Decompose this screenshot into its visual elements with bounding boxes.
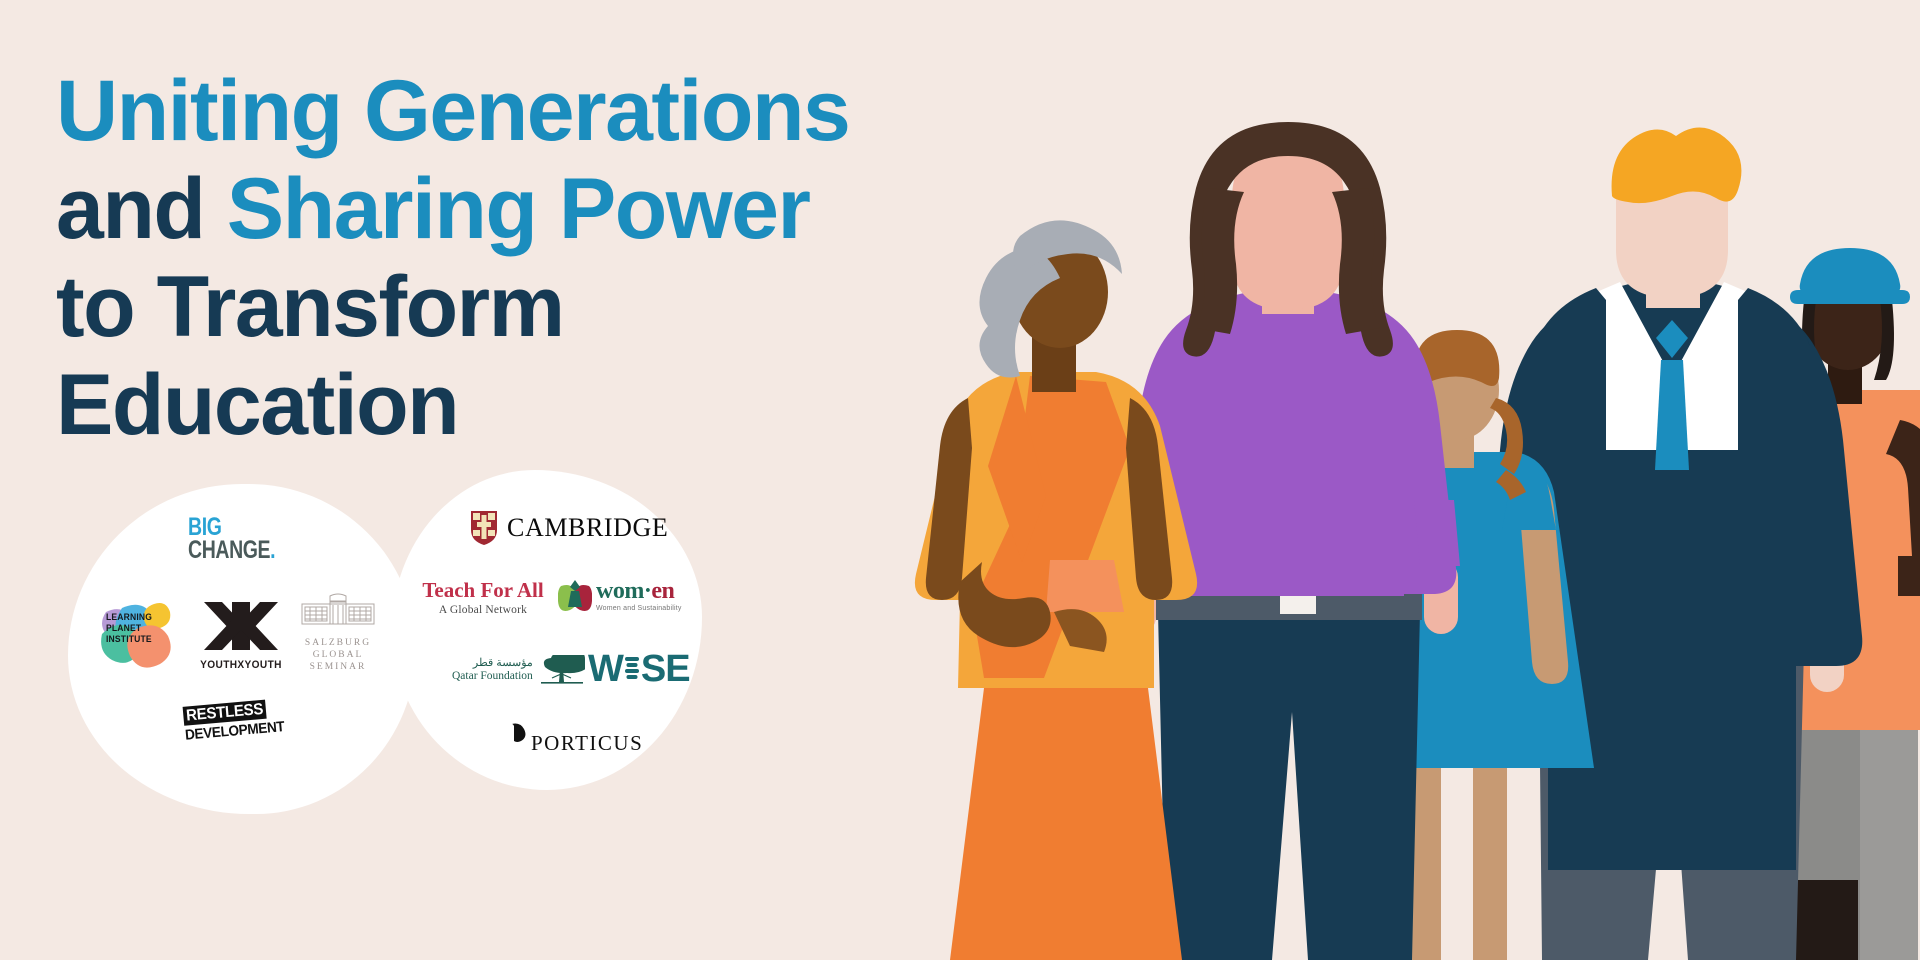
youthxyouth-wordmark: YOUTHXYOUTH: [200, 659, 283, 671]
women-wordmark: wom·en: [596, 579, 682, 603]
wise-stacked-bars-icon: [624, 651, 640, 685]
salzburg-line-2: GLOBAL: [300, 649, 376, 661]
salzburg-building-icon: [300, 592, 376, 628]
title-line-2: and Sharing Power: [56, 160, 976, 258]
big-change-dot: .: [270, 536, 275, 564]
page-title: Uniting Generations and Sharing Power to…: [56, 62, 976, 454]
title-line-2-accent: Sharing Power: [227, 161, 810, 257]
cambridge-shield-icon: [470, 510, 498, 546]
women-tagline: Women and Sustainability: [596, 605, 682, 612]
wise-wordmark-w: W: [588, 650, 623, 688]
logo-big-change[interactable]: BIG CHANGE.: [188, 516, 288, 563]
logo-qatar-foundation[interactable]: مؤسسة قطر Qatar Foundation: [452, 655, 585, 685]
title-line-1: Uniting Generations: [56, 62, 976, 160]
wise-wordmark-se: SE: [641, 650, 690, 688]
title-line-3: to Transform: [56, 258, 976, 356]
cambridge-wordmark: CAMBRIDGE: [507, 513, 668, 543]
lpi-line-3: INSTITUTE: [106, 634, 152, 645]
lpi-line-2: PLANET: [106, 623, 152, 634]
women-leaf-icon: [558, 578, 592, 612]
poster-canvas: Uniting Generations and Sharing Power to…: [0, 0, 1920, 960]
qatar-foundation-wordmark: مؤسسة قطر Qatar Foundation: [452, 657, 533, 683]
qatar-foundation-tree-icon: [539, 655, 585, 685]
title-line-2-lead: and: [56, 161, 227, 257]
logo-porticus[interactable]: PORTICUS: [508, 722, 643, 756]
youthxyouth-mark-icon: [196, 600, 286, 652]
title-line-3-text: to Transform: [56, 259, 564, 355]
qatar-foundation-english: Qatar Foundation: [452, 670, 533, 683]
qatar-foundation-arabic: مؤسسة قطر: [452, 657, 533, 670]
big-change-word-change: CHANGE.: [188, 538, 266, 563]
lpi-line-1: LEARNING: [106, 612, 152, 623]
logo-wise[interactable]: W SE: [588, 650, 690, 688]
teach-for-all-tagline: A Global Network: [418, 604, 548, 616]
title-line-4-text: Education: [56, 357, 458, 453]
logo-salzburg-global-seminar[interactable]: SALZBURG GLOBAL SEMINAR: [300, 592, 376, 673]
porticus-p-icon: [508, 722, 530, 756]
logo-women-sustainability[interactable]: wom·en Women and Sustainability: [558, 578, 682, 612]
logo-learning-planet-institute[interactable]: LEARNING PLANET INSTITUTE: [92, 592, 174, 674]
women-wordmark-block: wom·en Women and Sustainability: [596, 579, 682, 612]
logo-youthxyouth[interactable]: YOUTHXYOUTH: [196, 600, 286, 671]
salzburg-wordmark: SALZBURG GLOBAL SEMINAR: [300, 637, 376, 673]
title-line-4: Education: [56, 356, 976, 454]
big-change-word-big: BIG: [188, 516, 266, 538]
teach-for-all-wordmark: Teach For All: [418, 578, 548, 603]
salzburg-line-3: SEMINAR: [300, 661, 376, 673]
salzburg-line-1: SALZBURG: [300, 637, 376, 649]
learning-planet-wordmark: LEARNING PLANET INSTITUTE: [106, 612, 152, 645]
porticus-wordmark: PORTICUS: [531, 731, 643, 756]
women-wordmark-en: en: [651, 578, 674, 604]
title-line-1-text: Uniting Generations: [56, 63, 849, 159]
logo-cambridge[interactable]: CAMBRIDGE: [470, 510, 668, 546]
logo-teach-for-all[interactable]: Teach For All A Global Network: [418, 578, 548, 616]
